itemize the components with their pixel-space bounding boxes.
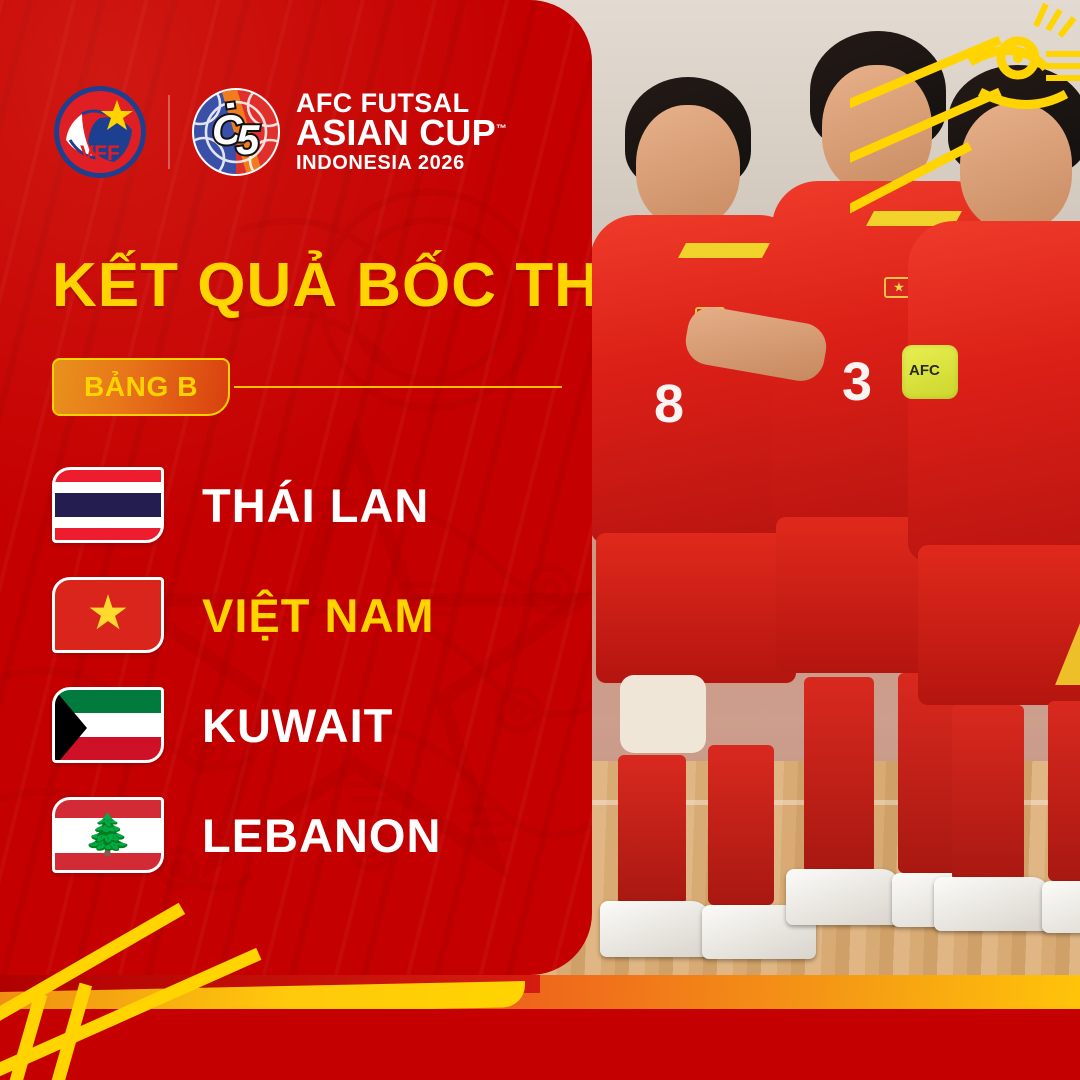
afc-line-3: INDONESIA 2026 xyxy=(296,154,507,172)
group-badge: BẢNG B xyxy=(52,358,230,416)
lebanon-flag: 🌲 xyxy=(52,797,164,873)
trademark-mark: ™ xyxy=(496,123,507,135)
cedar-icon: 🌲 xyxy=(83,815,133,855)
logo-bar: VFF xyxy=(52,84,507,180)
kuwait-flag xyxy=(52,687,164,763)
player-number: 3 xyxy=(842,351,872,413)
team-name: THÁI LAN xyxy=(202,478,429,533)
footer-bar: vff.org.vn /VietnameseFootball /VFF xyxy=(0,1009,1080,1080)
list-item[interactable]: KUWAIT xyxy=(52,670,552,780)
player-number: 8 xyxy=(654,373,684,435)
player-sock xyxy=(1048,701,1080,881)
vietnam-flag: ★ xyxy=(52,577,164,653)
team-list: THÁI LAN ★ VIỆT NAM KUWAIT 🌲 xyxy=(52,450,552,890)
team-name: LEBANON xyxy=(202,808,441,863)
dong-son-bird-icon xyxy=(850,0,1080,226)
list-item[interactable]: THÁI LAN xyxy=(52,450,552,560)
badge-rule xyxy=(234,386,562,388)
player-shoe xyxy=(786,869,900,925)
content-panel: VFF xyxy=(0,0,592,975)
afc-line-2: ASIAN CUP™ xyxy=(296,116,507,149)
player-shoe xyxy=(934,877,1050,931)
player-shoe xyxy=(1042,881,1080,933)
afc-line-2-text: ASIAN CUP xyxy=(296,112,496,153)
page-title: KẾT QUẢ BỐC THĂM xyxy=(52,250,592,321)
svg-text:5: 5 xyxy=(236,116,260,163)
poster-canvas: 8 3 xyxy=(0,0,1080,1080)
player-sock xyxy=(618,755,686,905)
afc-futsal-logo: C 5 AFC FUTSAL ASIAN CUP™ INDONESIA 2026 xyxy=(190,86,507,178)
team-name: VIỆT NAM xyxy=(202,588,435,643)
svg-text:VFF: VFF xyxy=(80,142,120,165)
player-sock xyxy=(804,677,874,873)
player-shorts xyxy=(596,533,796,683)
player-sock xyxy=(708,745,774,905)
player-head xyxy=(636,105,740,227)
team-photo: 8 3 xyxy=(520,0,1080,975)
team-name: KUWAIT xyxy=(202,698,393,753)
flag-star-icon: ★ xyxy=(86,590,129,638)
list-item[interactable]: 🌲 LEBANON xyxy=(52,780,552,890)
captain-armband xyxy=(902,345,958,399)
player-shoe xyxy=(600,901,710,957)
list-item[interactable]: ★ VIỆT NAM xyxy=(52,560,552,670)
player-sock xyxy=(952,705,1024,881)
knee-support xyxy=(620,675,706,753)
vff-logo: VFF xyxy=(52,84,148,180)
afc-logo-text: AFC FUTSAL ASIAN CUP™ INDONESIA 2026 xyxy=(296,91,507,172)
thailand-flag xyxy=(52,467,164,543)
jersey-chevron xyxy=(678,243,770,258)
logo-divider xyxy=(168,95,170,169)
group-badge-row: BẢNG B xyxy=(52,358,562,416)
afc-ball-icon: C 5 xyxy=(190,86,282,178)
